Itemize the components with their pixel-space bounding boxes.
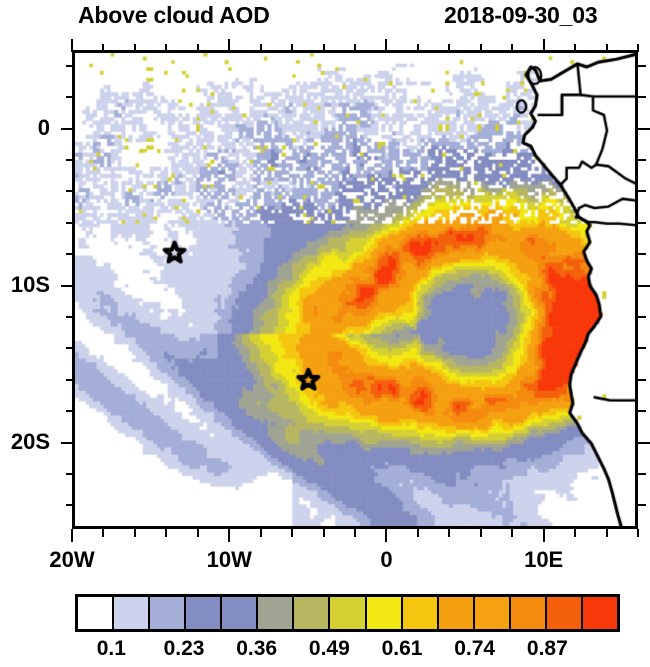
x-tick-top — [71, 39, 73, 52]
x-tick-bottom — [354, 529, 356, 537]
x-tick-top — [197, 44, 199, 52]
x-axis-label-10w: 10W — [179, 547, 279, 573]
y-tick-right — [638, 347, 646, 349]
x-tick-top — [637, 44, 639, 52]
y-tick-left — [66, 410, 74, 412]
x-tick-bottom — [417, 529, 419, 537]
colorbar-segment-10 — [439, 597, 475, 629]
y-axis-label-0: 0 — [0, 115, 50, 141]
x-axis-label-10e: 10E — [494, 547, 594, 573]
y-tick-left — [66, 504, 74, 506]
x-tick-bottom — [606, 529, 608, 537]
y-axis-label-10s: 10S — [0, 272, 50, 298]
x-tick-top — [228, 39, 230, 52]
y-tick-left — [61, 285, 74, 287]
x-tick-bottom — [71, 529, 73, 542]
x-tick-bottom — [543, 529, 545, 542]
x-tick-top — [606, 44, 608, 52]
y-tick-left — [61, 442, 74, 444]
colorbar-segment-9 — [403, 597, 439, 629]
page-title: Above cloud AOD — [78, 2, 270, 29]
x-tick-top — [480, 44, 482, 52]
x-tick-bottom — [385, 529, 387, 542]
colorbar-segment-12 — [511, 597, 547, 629]
x-tick-top — [417, 44, 419, 52]
x-tick-top — [291, 44, 293, 52]
y-axis-label-20s: 20S — [0, 429, 50, 455]
colorbar-segment-1 — [114, 597, 150, 629]
x-tick-top — [354, 44, 356, 52]
x-tick-bottom — [574, 529, 576, 537]
x-tick-bottom — [448, 529, 450, 537]
colorbar-segment-4 — [222, 597, 258, 629]
x-tick-bottom — [228, 529, 230, 542]
y-tick-left — [66, 96, 74, 98]
x-tick-top — [385, 39, 387, 52]
colorbar-tick-label-0p87: 0.87 — [497, 637, 597, 661]
timestamp-label: 2018-09-30_03 — [444, 2, 597, 29]
x-axis-label-0: 0 — [336, 547, 436, 573]
y-tick-right — [638, 159, 646, 161]
y-tick-right — [638, 96, 646, 98]
y-tick-right — [638, 504, 646, 506]
colorbar — [75, 594, 620, 632]
x-tick-bottom — [197, 529, 199, 537]
map-plot-area — [72, 50, 638, 529]
y-tick-left — [66, 347, 74, 349]
colorbar-segment-14 — [583, 597, 617, 629]
x-tick-bottom — [165, 529, 167, 537]
x-tick-top — [543, 39, 545, 52]
colorbar-segment-3 — [186, 597, 222, 629]
y-tick-right — [638, 65, 646, 67]
x-tick-top — [134, 44, 136, 52]
x-tick-bottom — [102, 529, 104, 537]
y-tick-right — [638, 316, 646, 318]
x-tick-top — [102, 44, 104, 52]
x-tick-top — [511, 44, 513, 52]
y-tick-left — [61, 128, 74, 130]
x-tick-bottom — [637, 529, 639, 537]
x-tick-top — [574, 44, 576, 52]
y-tick-right — [638, 190, 646, 192]
y-tick-left — [66, 190, 74, 192]
y-tick-left — [66, 253, 74, 255]
x-tick-top — [165, 44, 167, 52]
y-tick-left — [66, 159, 74, 161]
y-tick-left — [66, 65, 74, 67]
aod-heatmap-canvas — [75, 53, 635, 526]
x-tick-bottom — [260, 529, 262, 537]
y-tick-right — [638, 253, 646, 255]
y-tick-right — [638, 285, 650, 287]
colorbar-segment-6 — [294, 597, 330, 629]
colorbar-segment-13 — [547, 597, 583, 629]
y-tick-left — [66, 473, 74, 475]
x-tick-bottom — [291, 529, 293, 537]
y-tick-right — [638, 128, 650, 130]
y-tick-right — [638, 442, 650, 444]
x-tick-top — [260, 44, 262, 52]
y-tick-left — [66, 316, 74, 318]
y-tick-right — [638, 222, 646, 224]
colorbar-segment-0 — [78, 597, 114, 629]
colorbar-segment-2 — [150, 597, 186, 629]
x-tick-bottom — [480, 529, 482, 537]
y-tick-right — [638, 473, 646, 475]
x-tick-bottom — [323, 529, 325, 537]
colorbar-segment-7 — [330, 597, 366, 629]
x-axis-label-20w: 20W — [22, 547, 122, 573]
y-tick-right — [638, 379, 646, 381]
x-tick-bottom — [134, 529, 136, 537]
y-tick-left — [66, 222, 74, 224]
colorbar-segment-8 — [367, 597, 403, 629]
y-tick-left — [66, 379, 74, 381]
x-tick-bottom — [511, 529, 513, 537]
colorbar-segment-11 — [475, 597, 511, 629]
x-tick-top — [323, 44, 325, 52]
y-tick-right — [638, 410, 646, 412]
x-tick-top — [448, 44, 450, 52]
colorbar-segment-5 — [258, 597, 294, 629]
